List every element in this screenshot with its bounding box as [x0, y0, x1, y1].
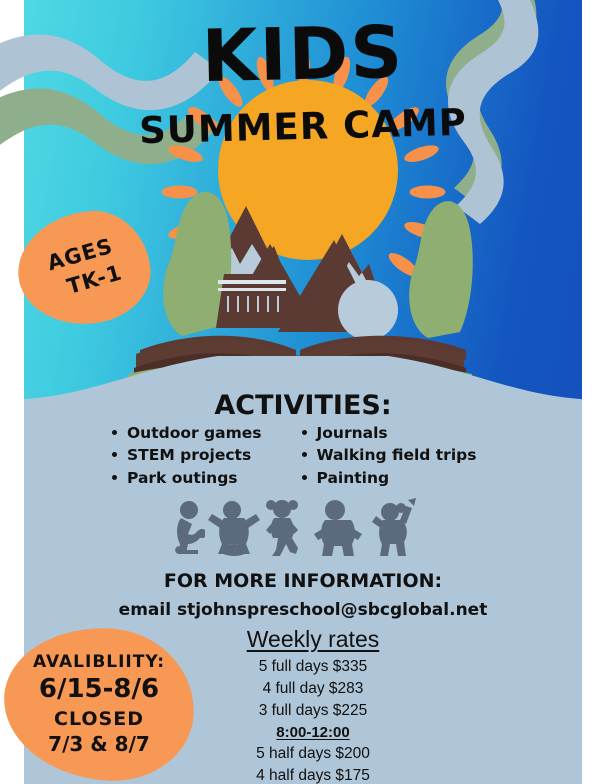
- rate-line: 4 half days $175: [203, 765, 423, 784]
- rate-line: 5 half days $200: [203, 743, 423, 765]
- availability-badge: AVALIBLIITY: 6/15-8/6 CLOSED 7/3 & 8/7: [4, 628, 194, 780]
- availability-closed-label: CLOSED: [54, 708, 144, 730]
- list-item: Park outings: [110, 467, 262, 489]
- children-silhouettes-icon: [172, 496, 422, 558]
- flyer-poster: KIDS SUMMER CAMP AGES TK-1 ACTIVITIES: O…: [0, 0, 606, 784]
- rate-line: 3 full days $225: [203, 700, 423, 722]
- list-item: Painting: [300, 467, 477, 489]
- activities-column-left: Outdoor games STEM projects Park outings: [110, 422, 262, 489]
- half-day-hours-note: 8:00-12:00: [203, 722, 423, 743]
- more-information-heading: FOR MORE INFORMATION:: [0, 570, 606, 592]
- open-book-mountain-illustration: [128, 148, 478, 388]
- availability-label: AVALIBLIITY:: [33, 652, 165, 672]
- availability-closed-dates: 7/3 & 8/7: [48, 733, 150, 757]
- availability-dates: 6/15-8/6: [39, 674, 159, 705]
- list-item: Outdoor games: [110, 422, 262, 444]
- rate-line: 5 full days $335: [203, 656, 423, 678]
- rate-line: 4 full day $283: [203, 678, 423, 700]
- list-item: STEM projects: [110, 444, 262, 466]
- activities-column-right: Journals Walking field trips Painting: [300, 422, 477, 489]
- activities-lists: Outdoor games STEM projects Park outings…: [110, 422, 510, 489]
- ages-badge: AGES TK-1: [18, 212, 150, 324]
- weekly-rates-heading: Weekly rates: [203, 626, 423, 653]
- contact-email[interactable]: email stjohnspreschool@sbcglobal.net: [0, 600, 606, 620]
- list-item: Walking field trips: [300, 444, 477, 466]
- list-item: Journals: [300, 422, 477, 444]
- activities-heading: ACTIVITIES:: [0, 390, 606, 421]
- page-title-kids: KIDS: [0, 12, 606, 97]
- weekly-rates-block: Weekly rates 5 full days $335 4 full day…: [203, 626, 423, 784]
